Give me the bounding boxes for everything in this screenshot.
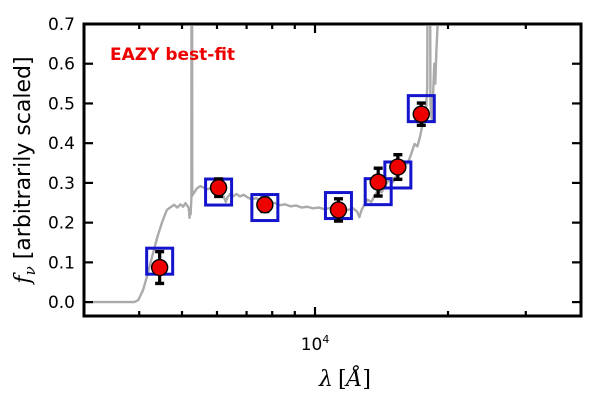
- y-tick-label: 0.0: [48, 293, 75, 313]
- y-axis-title: fν[arbitrarily scaled]: [11, 56, 39, 285]
- x-tick-labels: 104: [301, 333, 330, 355]
- scatter-plot: 0.00.10.20.30.40.50.60.7 104 EAZY best-f…: [0, 0, 600, 400]
- x-tick-label-1e4: 104: [301, 333, 330, 355]
- y-tick-label: 0.7: [48, 15, 75, 35]
- figure-canvas: 0.00.10.20.30.40.50.60.7 104 EAZY best-f…: [0, 0, 600, 400]
- observed-photometry-point: [211, 179, 227, 196]
- y-tick-label: 0.6: [48, 55, 75, 75]
- x-axis-title: λ[Å]: [318, 364, 371, 392]
- y-tick-label: 0.3: [48, 174, 75, 194]
- annotation-eazy-best-fit: EAZY best-fit: [110, 45, 235, 65]
- model-photometry-markers: [147, 96, 435, 275]
- observed-photometry-point: [152, 252, 168, 284]
- observed-photometry-point: [390, 155, 406, 180]
- y-tick-label: 0.1: [48, 253, 75, 273]
- y-tick-labels: 0.00.10.20.30.40.50.60.7: [48, 15, 75, 313]
- y-tick-label: 0.5: [48, 94, 75, 114]
- y-tick-label: 0.2: [48, 214, 75, 234]
- observed-photometry-point: [257, 197, 273, 213]
- y-tick-label: 0.4: [48, 134, 75, 154]
